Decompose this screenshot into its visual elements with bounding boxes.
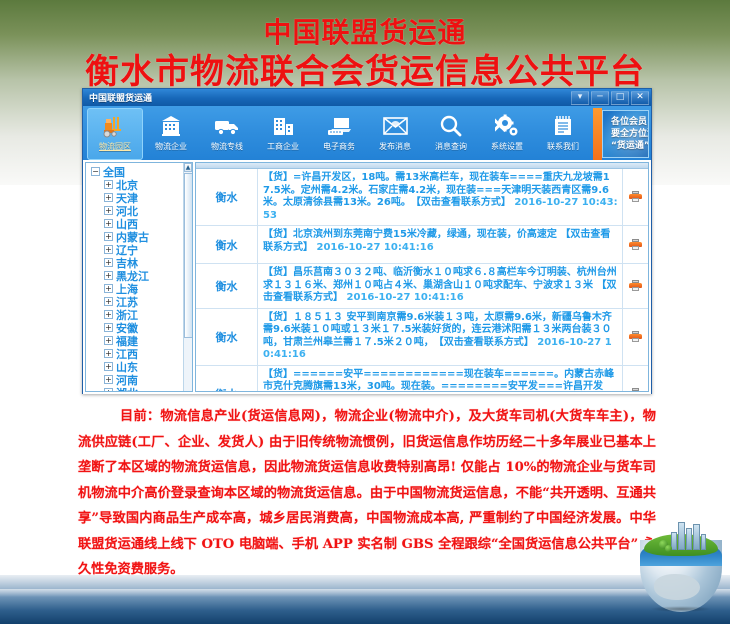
row-message: 【货】=许昌开发区，18吨。需13米高栏车，现在装车====重庆九龙坡需17.5… <box>258 169 622 225</box>
page-root: 中国联盟货运通 衡水市物流联合会货运信息公共平台 中国联盟货运通 ▾ ─ □ ✕ <box>0 0 730 624</box>
tree-toggle-icon[interactable]: + <box>104 219 113 228</box>
row-city: 衡水 <box>196 169 258 225</box>
tree-icon <box>665 545 672 552</box>
printer-icon <box>629 191 642 203</box>
tree-toggle-icon[interactable]: + <box>104 310 113 319</box>
toolbar-label: 物流企业 <box>155 141 187 152</box>
toolbar-label: 物流园区 <box>99 141 131 152</box>
table-row[interactable]: 衡水 【货】１８５１３ 安平到南京需9.6米装１３吨，太原需9.6米，新疆乌鲁木… <box>196 309 648 366</box>
tree-toggle-icon[interactable]: + <box>104 336 113 345</box>
printer-icon <box>629 388 642 393</box>
toolbar-item-logistics-park[interactable]: 物流园区 <box>87 108 143 160</box>
row-message: 【货】北京滨州到东莞南宁费15米冷藏，绿通，现在装，价高速定 【双击查看联系方式… <box>258 226 622 263</box>
toolbar-item-contact-us[interactable]: 联系我们 <box>535 108 591 160</box>
tree-toggle-icon[interactable]: + <box>104 258 113 267</box>
toolbar-item-logistics-line[interactable]: 物流专线 <box>199 108 255 160</box>
globe-shadow <box>650 606 712 612</box>
globe-landmass <box>654 574 700 600</box>
row-message-text: 【货】======安平============现在装车======。内蒙古赤峰市… <box>263 369 616 393</box>
toolbar-label: 消息查询 <box>435 141 467 152</box>
promo-banner-line2: 要全方位测试 <box>611 128 648 140</box>
tree-node-label: 湖北 <box>116 385 138 393</box>
close-icon[interactable]: ✕ <box>631 91 649 105</box>
toolbar-item-message-query[interactable]: 消息查询 <box>423 108 479 160</box>
window-controls: ▾ ─ □ ✕ <box>571 91 649 105</box>
tree-toggle-icon[interactable]: + <box>104 323 113 332</box>
table-row[interactable]: 衡水 【货】昌乐莒南３０３２吨、临沂衡水１０吨求６.８高栏车今订明装、杭州台州求… <box>196 264 648 309</box>
tree-toggle-icon[interactable]: + <box>104 271 113 280</box>
page-title: 中国联盟货运通 衡水市物流联合会货运信息公共平台 <box>0 16 730 92</box>
window-title: 中国联盟货运通 <box>89 91 152 104</box>
tree-toggle-icon[interactable]: + <box>104 232 113 241</box>
dropdown-icon[interactable]: ▾ <box>571 91 589 105</box>
print-button[interactable] <box>622 366 648 393</box>
table-row[interactable]: 衡水 【货】=许昌开发区，18吨。需13米高栏车，现在装车====重庆九龙坡需1… <box>196 169 648 226</box>
print-button[interactable] <box>622 226 648 263</box>
region-tree: − 全国 + 北京 + 天津 + 河北 <box>86 163 183 391</box>
toolbar-item-ecommerce[interactable]: 电子商务 <box>311 108 367 160</box>
promo-banner-line3: “货运通” 功能! <box>611 140 648 152</box>
minimize-icon[interactable]: ─ <box>591 91 609 105</box>
printer-icon <box>629 239 642 251</box>
toolbar-label: 电子商务 <box>323 141 355 152</box>
print-button[interactable] <box>622 264 648 308</box>
row-city: 衡水 <box>196 309 258 365</box>
page-title-line1: 中国联盟货运通 <box>0 16 730 50</box>
tree-toggle-icon[interactable]: + <box>104 284 113 293</box>
print-button[interactable] <box>622 169 648 225</box>
app-body: − 全国 + 北京 + 天津 + 河北 <box>83 160 651 394</box>
tree-toggle-icon[interactable]: + <box>104 297 113 306</box>
row-timestamp: 2016-10-27 10:41:16 <box>316 242 433 253</box>
tree-toggle-icon[interactable]: + <box>104 206 113 215</box>
table-row[interactable]: 衡水 【货】北京滨州到东莞南宁费15米冷藏，绿通，现在装，价高速定 【双击查看联… <box>196 226 648 264</box>
tree-toggle-icon[interactable]: + <box>104 349 113 358</box>
computer-icon <box>326 112 353 139</box>
skyscraper-icon <box>693 524 700 550</box>
printer-icon <box>629 280 642 292</box>
row-timestamp: 2016-10-27 10:41:16 <box>346 292 463 303</box>
promo-banner[interactable]: 各位会员 要全方位测试 “货运通” 功能! <box>602 110 649 158</box>
toolbar-item-industrial-commercial[interactable]: 工商企业 <box>255 108 311 160</box>
factory-icon <box>271 112 296 139</box>
table-row[interactable]: 衡水 【货】======安平============现在装车======。内蒙古… <box>196 366 648 393</box>
tree-toggle-icon[interactable]: + <box>104 193 113 202</box>
envelope-icon <box>382 112 409 139</box>
main-toolbar: 物流园区 物流企业 <box>83 106 651 160</box>
row-city: 衡水 <box>196 264 258 308</box>
toolbar-item-logistics-enterprise[interactable]: 物流企业 <box>143 108 199 160</box>
search-icon <box>439 112 463 139</box>
skyscraper-icon <box>701 534 706 550</box>
toolbar-label: 发布消息 <box>379 141 411 152</box>
message-list-pane: 衡水 【货】=许昌开发区，18吨。需13米高栏车，现在装车====重庆九龙坡需1… <box>195 162 649 392</box>
tree-toggle-icon[interactable]: + <box>104 375 113 384</box>
tree-node-hubei[interactable]: + 湖北 <box>89 386 183 392</box>
tree-toggle-icon[interactable]: + <box>104 388 113 392</box>
toolbar-label: 物流专线 <box>211 141 243 152</box>
toolbar-label: 系统设置 <box>491 141 523 152</box>
tree-toggle-icon[interactable]: + <box>104 362 113 371</box>
print-button[interactable] <box>622 309 648 365</box>
row-city: 衡水 <box>196 366 258 393</box>
notepad-icon <box>552 112 575 139</box>
toolbar-item-system-settings[interactable]: 系统设置 <box>479 108 535 160</box>
tree-toggle-icon[interactable]: + <box>104 180 113 189</box>
page-title-line2: 衡水市物流联合会货运信息公共平台 <box>0 52 730 92</box>
toolbar-label: 工商企业 <box>267 141 299 152</box>
toolbar-item-publish-message[interactable]: 发布消息 <box>367 108 423 160</box>
globe-graphic <box>640 520 722 612</box>
row-message: 【货】昌乐莒南３０３２吨、临沂衡水１０吨求６.８高栏车今订明装、杭州台州求１３１… <box>258 264 622 308</box>
building-icon <box>159 112 183 139</box>
toolbar-label: 联系我们 <box>547 141 579 152</box>
row-message: 【货】１８５１３ 安平到南京需9.6米装１３吨，太原需9.6米，新疆乌鲁木齐需9… <box>258 309 622 365</box>
window-titlebar: 中国联盟货运通 ▾ ─ □ ✕ <box>83 89 651 106</box>
forklift-icon <box>102 112 128 139</box>
scroll-up-icon[interactable]: ▲ <box>184 163 192 172</box>
gear-icon <box>495 112 520 139</box>
scrollbar-thumb[interactable] <box>184 173 193 338</box>
description-paragraph: 目前：物流信息产业(货运信息网)，物流企业(物流中介)，及大货车司机(大货车车主… <box>78 404 656 583</box>
toolbar-divider <box>593 108 602 160</box>
skyscraper-icon <box>678 522 685 550</box>
maximize-icon[interactable]: □ <box>611 91 629 105</box>
printer-icon <box>629 331 642 343</box>
region-tree-pane: − 全国 + 北京 + 天津 + 河北 <box>85 162 193 392</box>
tree-toggle-icon[interactable]: − <box>91 167 100 176</box>
app-window: 中国联盟货运通 ▾ ─ □ ✕ <box>82 88 652 394</box>
promo-banner-line1: 各位会员 <box>611 116 648 128</box>
skyscraper-icon <box>686 528 692 550</box>
truck-icon <box>214 112 241 139</box>
tree-toggle-icon[interactable]: + <box>104 245 113 254</box>
region-tree-scrollbar[interactable]: ▲ <box>183 163 192 391</box>
row-city: 衡水 <box>196 226 258 263</box>
row-message: 【货】======安平============现在装车======。内蒙古赤峰市… <box>258 366 622 393</box>
